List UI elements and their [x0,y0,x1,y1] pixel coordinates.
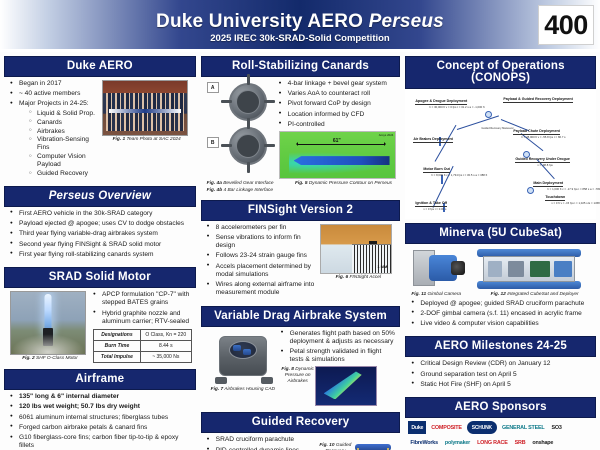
canard-blade [221,144,232,147]
list-item: Deployed @ apogee; guided SRAD cruciform… [411,300,592,308]
list-item: Liquid & Solid Prop. [29,110,102,118]
sponsor-logo: LONG RACE [475,436,510,449]
list-item: SRAD cruciform parachute [207,436,319,444]
column-middle: Roll-Stabilizing Canards A B [201,56,401,448]
figure-caption-4b-text: 4 Bar Linkage Interface [222,188,273,193]
conops-label: Main Deployment [533,181,563,187]
deployer-rail-bottom [477,281,581,289]
list-item: Varies AoA to counteract roll [279,90,397,98]
conops-values: v = 0 fps t = 0.00 s [423,208,446,211]
list-item: Wires along external airframe into measu… [207,281,321,297]
finsight-row: 8 accelerometers per fin Sense vibration… [207,224,397,300]
list-item: Ground separation test on April 5 [411,371,592,379]
list-item: First AERO vehicle in the 30k-SRAD categ… [10,210,192,218]
srad-motor-text-wrap: APCP formulation "CP-7" with stepped BAT… [90,291,192,363]
canard-blade [264,100,275,103]
conops-label: Touchdown [545,195,565,201]
airbrake-mount-foot [261,377,273,384]
milestones-bullets: Critical Design Review (CDR) on January … [411,360,592,389]
gimbal-figure-wrap: Fig. 11 Gimbal Camera [411,247,473,298]
conops-values: v = -98.8 fps [537,164,552,167]
section-body-minerva: Fig. 11 Gimbal Camera [405,244,596,332]
section-heading-minerva: Minerva (5U CubeSat) [405,223,596,244]
canard-blade [247,118,250,129]
grm-figure-wrap [352,436,396,450]
sponsor-logo: SRB [513,436,528,449]
guided-recovery-bullets: SRAD cruciform parachute PID-controlled … [207,436,319,450]
figure-caption-4a-num: Fig. 4a [207,181,222,186]
figure-tag-a: A [207,82,219,93]
list-item: Computer Vision Payload [29,153,102,169]
section-body-duke-aero: Began in 2017 ~ 40 active members Major … [4,77,196,182]
section-heading-airbrakes: Variable Drag Airbrake System [201,306,401,327]
conops-label: Apogee & Drogue Deployment [415,99,467,105]
section-duke-aero: Duke AERO Began in 2017 ~ 40 active memb… [4,56,196,182]
list-item: G10 fiberglass-core fins; carbon fiber t… [10,434,192,450]
list-item: ~ 40 active members [10,90,102,98]
canard-blade [247,162,250,173]
section-heading-airframe: Airframe [4,369,196,390]
figure-caption-5-num: Fig. 5 [295,181,308,186]
finsight-bullets: 8 accelerometers per fin Sense vibration… [207,224,321,298]
section-heading-canards: Roll-Stabilizing Canards [201,56,401,77]
section-heading-duke-aero: Duke AERO [4,56,196,77]
table-cell-value: 8.44 s [140,341,191,352]
duke-aero-row: Began in 2017 ~ 40 active members Major … [10,80,192,180]
cubesat-module [530,261,550,277]
cfd-scale-label: Ansys 2024 [379,134,394,137]
sponsor-logo: onshape [530,436,555,449]
guided-recovery-text-wrap: SRAD cruciform parachute PID-controlled … [207,436,319,450]
sponsor-logo: SCHUNK [467,421,497,434]
list-item: Canards [29,119,102,127]
conops-label: Air Brakes Deployment [413,137,453,143]
section-body-perseus-overview: First AERO vehicle in the 30k-SRAD categ… [4,207,196,263]
conops-maneuver-label: Guided Recovery Maneuver [481,127,513,130]
srad-motor-figure-wrap: Fig. 2 SHF O-Class Motor [10,291,90,363]
figure-caption-7-text: Airbrakes Housing CAD [223,387,275,392]
title-text-wrap: Duke University AERO Perseus 2025 IREC 3… [156,12,444,45]
conops-values: h = 8,600 ft v = 1,734 fps t = 30.5 s a … [431,174,487,177]
sponsor-logo: COMPOSITE [429,421,464,434]
list-item: Began in 2017 [10,80,102,88]
guided-recovery-module-cad [352,436,394,450]
figure-caption-11: Fig. 11 Gimbal Camera [411,292,473,298]
srad-motor-bullets: APCP formulation "CP-7" with stepped BAT… [93,291,192,326]
list-item: First year flying roll-stabilizing canar… [10,251,192,259]
sponsor-logo: Duke [408,421,426,434]
team-number-badge: 400 [538,5,594,45]
figure-caption-12-num: Fig. 12 [491,292,506,297]
list-item: 135" long & 6" internal diameter [10,393,192,401]
section-airbrakes: Variable Drag Airbrake System [201,306,401,409]
list-item: PI-controlled [279,121,397,129]
list-item: Second year flying FINSight & SRAD solid… [10,241,192,249]
fea-row: Fig. 8 Dynamic Pressure on Airbrakes [281,366,397,406]
figure-caption-12-text: Integrated CubeSat and Deployer [506,292,579,297]
list-item: Vibration-Sensing Fins [29,136,102,152]
title-subtitle: 2025 IREC 30k-SRAD-Solid Competition [156,33,444,44]
canard-inner-hub [236,134,260,158]
list-item: Guided Recovery [29,170,102,178]
list-item: Forged carbon airbrake petals & canard f… [10,424,192,432]
airbrakes-row: Fig. 7 Airbrakes Housing CAD Generates f… [207,330,397,407]
cubesat-module [554,261,572,277]
sponsor-logo-grid: Duke COMPOSITE SCHUNK GENERAL STEEL SO3 … [405,418,596,450]
conops-label: Payload & Guided Recovery Deployment [503,97,573,103]
sponsor-logo: FibreWorks [408,436,440,449]
table-cell-key: Total Impulse [94,352,141,363]
team-photo-image [102,80,188,136]
table-row: Designations O Class, Kn = 220 [94,330,192,341]
section-heading-guided-recovery: Guided Recovery [201,412,401,433]
figure-caption-1-num: Fig. 1 [113,137,126,142]
duke-aero-bullets: Began in 2017 ~ 40 active members Major … [10,80,102,178]
list-item: Payload ejected @ apogee; uses CV to dod… [10,220,192,228]
flight-path-segment [435,125,457,162]
column-right: Concept of Operations (CONOPS) [405,56,596,448]
section-finsight: FINSight Version 2 8 accelerometers per … [201,200,401,302]
list-item: Major Projects in 24-25: Liquid & Solid … [10,100,102,177]
title-main-italic: Perseus [369,11,444,32]
figure-caption-11-num: Fig. 11 [411,292,426,297]
canard-inner-hub [236,90,260,114]
finsight-figure-wrap: 1 MM Fig. 6 FINSight Accel [320,224,396,300]
motor-spec-table: Designations O Class, Kn = 220 Burn Time… [93,329,192,363]
team-photo-banner [109,109,181,113]
duke-aero-figure-wrap: Fig. 1 Team Photo at SAC 2024 [102,80,192,180]
figure-caption-6: Fig. 6 FINSight Accel [320,275,396,281]
figure-caption-5: Fig. 5 Dynamic Pressure Contour on Perse… [291,181,397,187]
conops-values: h = 1,600 ft v = -17.9 fps t = 858 s a =… [547,188,600,191]
airbrakes-text-wrap: Generates flight path based on 50% deplo… [279,330,397,407]
table-cell-key: Designations [94,330,141,341]
canards-bullets: 4-bar linkage + bevel gear system Varies… [279,80,397,129]
ruler-scale-label: 1 MM [377,264,387,269]
cfd-pressure-contour-image: 61" Ansys 2024 [279,131,397,179]
poster-columns: Duke AERO Began in 2017 ~ 40 active memb… [0,52,600,450]
conops-values: h = 28,000 ft v = -55.8 fps t = 86.7 s [521,136,565,139]
list-item: APCP formulation "CP-7" with stepped BAT… [93,291,192,307]
section-body-airbrakes: Fig. 7 Airbrakes Housing CAD Generates f… [201,327,401,409]
section-sponsors: AERO Sponsors Duke COMPOSITE SCHUNK GENE… [405,397,596,450]
figure-caption-1-text: Team Photo at SAC 2024 [125,137,181,142]
section-heading-srad-motor: SRAD Solid Motor [4,267,196,288]
figure-caption-7: Fig. 7 Airbrakes Housing CAD [207,387,279,393]
minerva-figures-row: Fig. 11 Gimbal Camera [411,247,592,298]
canard-blade [264,144,275,147]
figure-caption-2-num: Fig. 2 [22,356,35,361]
table-row: Total Impulse ~ 35,000 Ns [94,352,192,363]
motor-burn-photo [10,291,86,355]
section-airframe: Airframe 135" long & 6" internal diamete… [4,369,196,450]
cubesat-deployer-cad [477,247,581,291]
conops-values: v = 0 ft v = -15 fps t = 1,025 s E = 145… [551,202,600,205]
fea-blade [324,371,362,399]
section-srad-motor: SRAD Solid Motor Fig. 2 SHF O-Class Moto… [4,267,196,365]
section-body-airframe: 135" long & 6" internal diameter 120 lbs… [4,390,196,450]
section-body-guided-recovery: SRAD cruciform parachute PID-controlled … [201,433,401,450]
list-item-label: Major Projects in 24-25: [19,100,89,107]
section-body-srad-motor: Fig. 2 SHF O-Class Motor APCP formulatio… [4,288,196,365]
conops-diagram: Apogee & Drogue Deployment h = 30,000 ft… [405,89,596,219]
airbrake-housing-cad [211,330,277,386]
section-canards: Roll-Stabilizing Canards A B [201,56,401,196]
poster-title-banner: Duke University AERO Perseus 2025 IREC 3… [0,0,600,52]
section-guided-recovery: Guided Recovery SRAD cruciform parachute… [201,412,401,450]
figure-caption-12: Fig. 12 Integrated CubeSat and Deployer [477,292,592,298]
list-item: Petal strength validated in flight tests… [281,348,397,364]
figure-caption-6-num: Fig. 6 [336,275,349,280]
guided-recovery-row: SRAD cruciform parachute PID-controlled … [207,436,397,450]
figure-tag-b: B [207,137,219,148]
gimbal-camera-cad [411,247,471,291]
cfd-dimension-arrow [298,144,384,145]
cfd-dimension-label: 61" [333,138,341,144]
section-minerva: Minerva (5U CubeSat) Fig. 11 Gimbal Came… [405,223,596,332]
list-item: 2-DOF gimbal camera (s.f. 11) encased in… [411,310,592,318]
figure-caption-4b: Fig. 4b 4 Bar Linkage Interface [207,188,291,194]
airbrakes-cad-wrap: Fig. 7 Airbrakes Housing CAD [207,330,279,407]
table-cell-value: ~ 35,000 Ns [140,352,191,363]
camera-lens [451,261,465,275]
sponsor-logo: polymaker [443,436,472,449]
figure-caption-1: Fig. 1 Team Photo at SAC 2024 [102,137,192,143]
conops-label: Motor Burn Out [423,167,450,173]
figure-caption-11-text: Gimbal Camera [426,292,461,297]
canard-cads-wrap [221,80,275,179]
section-body-milestones: Critical Design Review (CDR) on January … [405,357,596,393]
canards-text-wrap: 4-bar linkage + bevel gear system Varies… [275,80,397,179]
figure-caption-5-text: Dynamic Pressure Contour on Perseus [308,181,393,186]
section-heading-milestones: AERO Milestones 24-25 [405,336,596,357]
list-item: Third year flying variable-drag airbrake… [10,230,192,238]
airbrakes-bullets: Generates flight path based on 50% deplo… [281,330,397,365]
section-perseus-overview: Perseus Overview First AERO vehicle in t… [4,186,196,263]
canard-blade [247,74,250,85]
section-conops: Concept of Operations (CONOPS) [405,56,596,219]
canards-row: A B [207,80,397,179]
list-item: 120 lbs wet weight; 50.7 lbs dry weight [10,403,192,411]
sponsor-logo: SO3 [550,421,564,434]
conops-label: Guided Recovery Under Drogue [515,157,570,163]
figure-caption-4a: Fig. 4a Bevelled Gear Interface [207,181,291,187]
list-item: Airbrakes [29,128,102,136]
figure-caption-8: Fig. 8 Dynamic Pressure on Airbrakes [281,367,315,384]
section-heading-conops: Concept of Operations (CONOPS) [405,56,596,89]
canard-blade [221,100,232,103]
cubesat-module [508,261,524,277]
list-item: Generates flight path based on 50% deplo… [281,330,397,346]
list-item: 8 accelerometers per fin [207,224,321,232]
canards-figure-captions: Fig. 4a Bevelled Gear Interface Fig. 4b … [207,180,291,194]
column-left: Duke AERO Began in 2017 ~ 40 active memb… [4,56,196,448]
canards-captions-row: Fig. 4a Bevelled Gear Interface Fig. 4b … [207,180,397,194]
canard-tags-wrap: A B [207,80,221,179]
page-title: Duke University AERO Perseus [156,12,444,32]
figure-caption-6-text: FINSight Accel [348,275,381,280]
airbrake-petal [243,349,251,355]
airbrake-mount-foot [215,377,227,384]
cubesat-figure-wrap: Fig. 12 Integrated CubeSat and Deployer [477,247,592,298]
grm-top-plate [355,444,391,450]
canard-cad-b [225,124,271,168]
cubesat-bay [483,256,575,282]
airframe-bullets: 135" long & 6" internal diameter 120 lbs… [10,393,192,450]
fea-caption-wrap: Fig. 8 Dynamic Pressure on Airbrakes [281,366,315,384]
minerva-bullets: Deployed @ apogee; guided SRAD cruciform… [411,300,592,329]
figure-caption-4b-num: Fig. 4b [207,188,222,193]
figure-caption-2-text: SHF O-Class Motor [35,356,78,361]
grm-caption-wrap: Fig. 10 Guided Recovery Module [318,436,352,450]
finsight-text-wrap: 8 accelerometers per fin Sense vibration… [207,224,321,300]
list-item: 6061 aluminum internal structures; fiber… [10,414,192,422]
list-item: Accels placement determined by modal sim… [207,263,321,279]
list-item: 4-bar linkage + bevel gear system [279,80,397,88]
conops-values: h = 30,000 ft v = 0 fps t = 31.2 s a = -… [429,106,484,109]
conops-label: Ignition & Take Off [415,201,447,207]
section-heading-finsight: FINSight Version 2 [201,200,401,221]
perseus-overview-bullets: First AERO vehicle in the 30k-SRAD categ… [10,210,192,259]
section-body-canards: A B [201,77,401,196]
figure-caption-10-num: Fig. 10 [319,443,334,448]
section-heading-sponsors: AERO Sponsors [405,397,596,418]
title-main-plain: Duke University AERO [156,11,369,32]
cubesat-module [488,261,502,277]
table-row: Burn Time 8.44 s [94,341,192,352]
poster-root: Duke University AERO Perseus 2025 IREC 3… [0,0,600,450]
section-heading-perseus-overview: Perseus Overview [4,186,196,207]
table-cell-value: O Class, Kn = 220 [140,330,191,341]
motor-smoke [11,334,85,354]
section-body-finsight: 8 accelerometers per fin Sense vibration… [201,221,401,302]
figure-caption-4a-text: Bevelled Gear Interface [222,181,274,186]
conops-label: Payload Chute Deployment [513,129,560,135]
srad-motor-row: Fig. 2 SHF O-Class Motor APCP formulatio… [10,291,192,363]
fea-airbrake-pressure-image [315,366,377,406]
duke-aero-subbullets: Liquid & Solid Prop. Canards Airbrakes V… [19,110,102,178]
figure-caption-10: Fig. 10 Guided Recovery Module [318,443,352,450]
section-milestones: AERO Milestones 24-25 Critical Design Re… [405,336,596,393]
list-item: Hybrid graphite nozzle and aluminum carr… [93,310,192,326]
figure-caption-8-num: Fig. 8 [281,367,294,372]
cfd-rocket-body [294,156,390,165]
list-item: Pivot forward CoP by design [279,100,397,108]
table-cell-key: Burn Time [94,341,141,352]
figure-caption-7-num: Fig. 7 [211,387,224,392]
list-item: Static Hot Fire (SHF) on April 5 [411,381,592,389]
list-item: Sense vibrations to inform fin design [207,234,321,250]
sponsor-logo: GENERAL STEEL [500,421,547,434]
list-item: Location informed by CFD [279,111,397,119]
airbrake-petal [233,345,241,351]
list-item: Follows 23-24 strain gauge fins [207,252,321,260]
list-item: Critical Design Review (CDR) on January … [411,360,592,368]
cfd-caption-wrap: Fig. 5 Dynamic Pressure Contour on Perse… [291,180,397,194]
figure-caption-2: Fig. 2 SHF O-Class Motor [10,356,90,362]
finsight-accel-photo: 1 MM [320,224,392,274]
main-node [527,187,534,194]
list-item: Live video & computer vision capabilitie… [411,320,592,328]
